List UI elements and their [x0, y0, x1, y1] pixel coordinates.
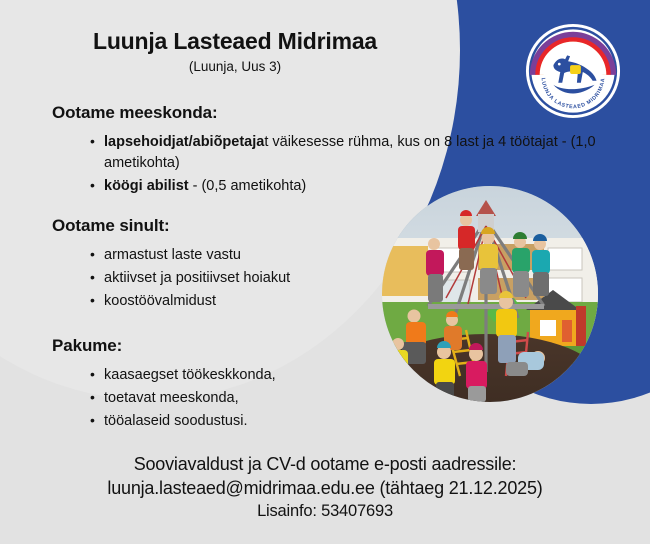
section-list: kaasaegset töökeskkonda, toetavat meesko…: [52, 365, 276, 432]
list-item-text: - (0,5 ametikohta): [189, 178, 307, 194]
list-item-bold: lapsehoidjat/abiõpetaja: [104, 134, 264, 150]
footer-line-intro: Sooviavaldust ja CV-d ootame e-posti aad…: [0, 452, 650, 476]
page-title: Luunja Lasteaed Midrimaa: [0, 29, 470, 54]
section-list: lapsehoidjat/abiõpetajat väikesesse rühm…: [52, 132, 650, 197]
list-item: aktiivset ja positiivset hoiakut: [90, 268, 290, 289]
list-item-text: tööalaseid soodustusi.: [104, 413, 248, 429]
page-subtitle: (Luunja, Uus 3): [0, 59, 470, 75]
list-item-bold: köögi abilist: [104, 178, 189, 194]
footer-line-email[interactable]: luunja.lasteaed@midrimaa.edu.ee (tähtaeg…: [0, 476, 650, 500]
list-item-text: koostöövalmidust: [104, 293, 216, 309]
section-heading: Ootame sinult:: [52, 216, 290, 236]
list-item: toetavat meeskonda,: [90, 388, 276, 409]
list-item: koostöövalmidust: [90, 291, 290, 312]
section-expectations: Ootame sinult: armastust laste vastu akt…: [52, 216, 290, 314]
section-team: Ootame meeskonda: lapsehoidjat/abiõpetaj…: [52, 103, 650, 199]
list-item: armastust laste vastu: [90, 245, 290, 266]
list-item-text: armastust laste vastu: [104, 247, 241, 263]
list-item: köögi abilist - (0,5 ametikohta): [90, 176, 650, 197]
job-advert-poster: LUUNJA LASTEAED MIDRIMAA Luunja Lasteaed…: [0, 0, 650, 544]
playground-team-photo: [382, 186, 598, 402]
contact-footer: Sooviavaldust ja CV-d ootame e-posti aad…: [0, 452, 650, 522]
list-item: kaasaegset töökeskkonda,: [90, 365, 276, 386]
list-item-text: toetavat meeskonda,: [104, 390, 239, 406]
section-list: armastust laste vastu aktiivset ja posit…: [52, 245, 290, 312]
section-heading: Ootame meeskonda:: [52, 103, 650, 123]
list-item: lapsehoidjat/abiõpetajat väikesesse rühm…: [90, 132, 650, 174]
footer-line-phone: Lisainfo: 53407693: [0, 500, 650, 522]
section-offer: Pakume: kaasaegset töökeskkonda, toetava…: [52, 336, 276, 434]
list-item-text: kaasaegset töökeskkonda,: [104, 367, 276, 383]
list-item-text: aktiivset ja positiivset hoiakut: [104, 270, 290, 286]
list-item: tööalaseid soodustusi.: [90, 411, 276, 432]
section-heading: Pakume:: [52, 336, 276, 356]
